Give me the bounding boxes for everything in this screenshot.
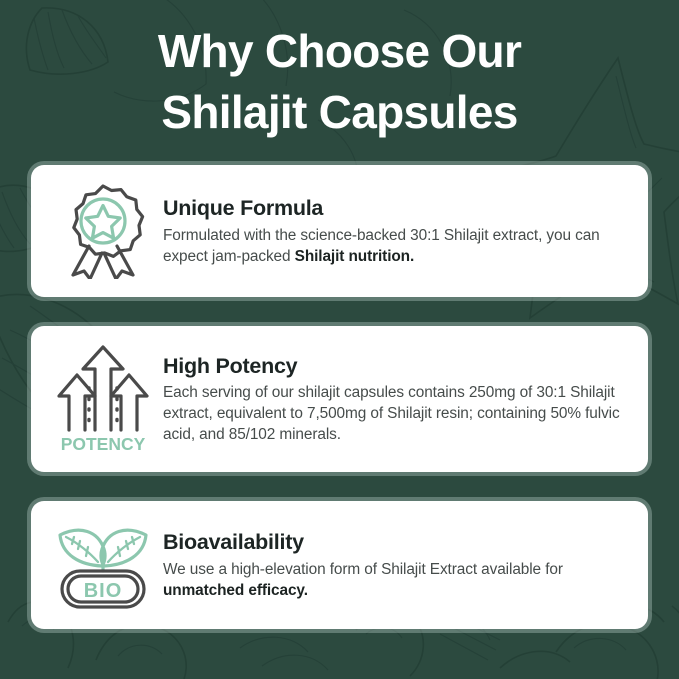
feature-card-bioavailability: BIO Bioavailability We use a high-elevat… — [31, 501, 648, 629]
card-icon-slot: POTENCY — [47, 340, 159, 458]
page-title: Why Choose Our Shilajit Capsules — [31, 0, 648, 143]
card-title: Unique Formula — [163, 195, 626, 222]
page-title-line-2: Shilajit Capsules — [31, 82, 648, 143]
feature-card-list: Unique Formula Formulated with the scien… — [31, 165, 648, 629]
card-body: Bioavailability We use a high-elevation … — [159, 529, 630, 601]
card-title: High Potency — [163, 353, 626, 380]
card-title: Bioavailability — [163, 529, 626, 556]
award-badge-icon — [57, 183, 149, 279]
feature-card-unique-formula: Unique Formula Formulated with the scien… — [31, 165, 648, 297]
card-body: High Potency Each serving of our shilaji… — [159, 353, 630, 445]
card-description: Formulated with the science-backed 30:1 … — [163, 225, 626, 267]
card-description: We use a high-elevation form of Shilajit… — [163, 559, 626, 601]
card-description-highlight: Shilajit nutrition. — [295, 248, 415, 265]
card-body: Unique Formula Formulated with the scien… — [159, 195, 630, 267]
card-description: Each serving of our shilajit capsules co… — [163, 382, 626, 445]
card-icon-slot — [47, 179, 159, 283]
card-description-prefix: We use a high-elevation form of Shilajit… — [163, 561, 563, 578]
bio-icon-label: BIO — [84, 580, 123, 602]
potency-arrows-icon: POTENCY — [52, 344, 154, 454]
card-description-highlight: unmatched efficacy. — [163, 582, 308, 599]
feature-card-high-potency: POTENCY High Potency Each serving of our… — [31, 326, 648, 472]
page-title-line-1: Why Choose Our — [31, 21, 648, 82]
promo-page: Why Choose Our Shilajit Capsules — [0, 0, 679, 679]
bio-leaf-icon: BIO — [54, 519, 152, 611]
potency-icon-label: POTENCY — [61, 434, 146, 454]
card-icon-slot: BIO — [47, 515, 159, 615]
